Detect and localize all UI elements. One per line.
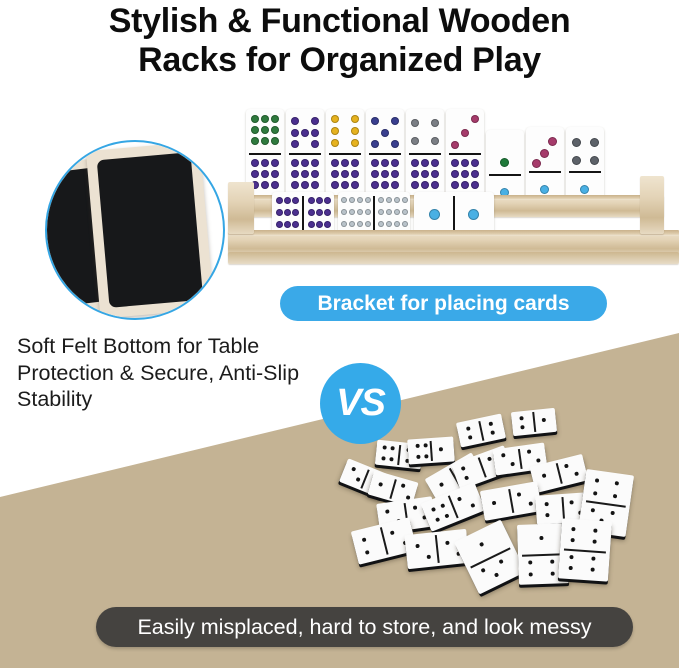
rack-base bbox=[228, 252, 679, 264]
rack-groove-lower bbox=[228, 230, 679, 236]
page-title-line-2: Racks for Organized Play bbox=[0, 41, 679, 80]
rack-domino bbox=[286, 109, 324, 201]
pile-domino bbox=[511, 408, 557, 436]
rack-end-right bbox=[640, 176, 664, 234]
rack-underside-front bbox=[86, 141, 214, 318]
rack-domino bbox=[446, 109, 484, 201]
domino-divider bbox=[302, 196, 304, 233]
domino-divider bbox=[329, 153, 361, 155]
felt-bottom-caption: Soft Felt Bottom for Table Protection & … bbox=[17, 333, 307, 413]
rack-domino bbox=[326, 109, 364, 201]
page-title-line-1: Stylish & Functional Wooden bbox=[0, 2, 679, 41]
rack-end-left bbox=[228, 182, 254, 234]
scattered-domino-pile bbox=[336, 424, 666, 604]
bracket-badge: Bracket for placing cards bbox=[280, 286, 607, 321]
felt-pad-front bbox=[97, 152, 204, 308]
wooden-rack-with-dominoes bbox=[228, 100, 679, 278]
domino-divider bbox=[489, 174, 521, 176]
pile-domino bbox=[558, 518, 612, 581]
domino-divider bbox=[409, 153, 441, 155]
messy-banner: Easily misplaced, hard to store, and loo… bbox=[96, 607, 633, 647]
rack-domino bbox=[406, 109, 444, 201]
page-title: Stylish & Functional Wooden Racks for Or… bbox=[0, 2, 679, 80]
pile-domino bbox=[407, 436, 455, 464]
domino-divider bbox=[249, 153, 281, 155]
pile-domino bbox=[480, 481, 542, 521]
domino-divider bbox=[369, 153, 401, 155]
domino-divider bbox=[449, 153, 481, 155]
infographic-page: Stylish & Functional Wooden Racks for Or… bbox=[0, 0, 679, 668]
domino-divider bbox=[289, 153, 321, 155]
felt-bottom-closeup bbox=[45, 140, 225, 320]
rack-domino bbox=[366, 109, 404, 201]
domino-divider bbox=[373, 196, 375, 233]
domino-divider bbox=[529, 171, 561, 173]
domino-divider bbox=[569, 171, 601, 173]
domino-divider bbox=[453, 196, 455, 233]
